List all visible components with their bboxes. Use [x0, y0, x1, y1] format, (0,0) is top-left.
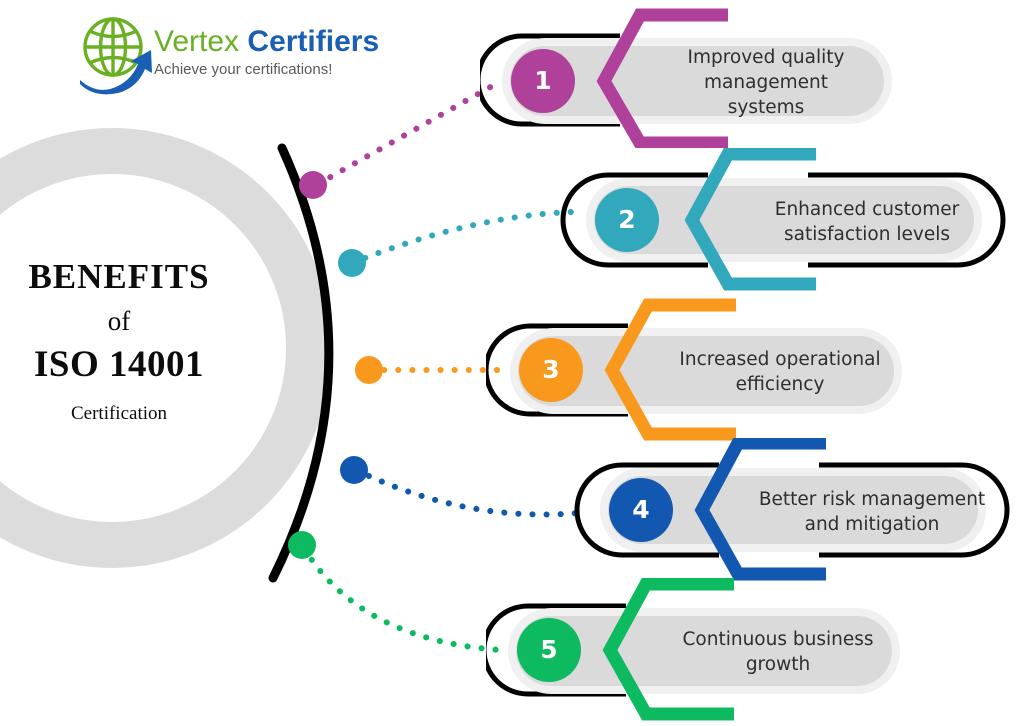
brand-logo[interactable]: Vertex Certifiers Achieve your certifica… — [72, 12, 350, 96]
connector-line-2 — [352, 212, 572, 263]
arc-node-2 — [338, 249, 366, 277]
logo-name-vertex: Vertex — [154, 25, 239, 58]
connector-line-4 — [356, 470, 588, 514]
title-block: BENEFITS of ISO 14001 Certification — [0, 258, 238, 425]
benefit-row-5[interactable]: 5 Continuous business growth — [486, 578, 910, 726]
connector-line-5 — [304, 548, 500, 650]
title-line-standard: ISO 14001 — [0, 343, 238, 387]
title-line-benefits: BENEFITS — [0, 258, 238, 297]
benefit-text-4: Better risk management and mitigation — [748, 488, 996, 538]
infographic-canvas: BENEFITS of ISO 14001 Certification Vert… — [0, 0, 1024, 726]
benefit-number-5: 5 — [529, 637, 569, 662]
globe-with-arrow-icon — [72, 12, 158, 96]
benefit-text-1: Improved quality management systems — [658, 46, 874, 121]
arc-node-3 — [355, 356, 383, 384]
benefit-row-4[interactable]: 4 Better risk management and mitigation — [574, 438, 1010, 582]
logo-wordmark: Vertex Certifiers Achieve your certifica… — [154, 26, 354, 78]
benefit-row-1[interactable]: 1 Improved quality management systems — [480, 8, 904, 148]
benefit-number-2: 2 — [607, 207, 647, 232]
connector-line-1 — [318, 85, 494, 184]
benefit-row-3[interactable]: 3 Increased operational efficiency — [486, 298, 910, 442]
arc-node-5 — [288, 531, 316, 559]
logo-tagline: Achieve your certifications! — [154, 61, 354, 78]
benefit-number-1: 1 — [523, 68, 563, 93]
logo-name-certifiers: Certifiers — [247, 25, 379, 58]
arc-node-4 — [340, 456, 368, 484]
benefit-number-4: 4 — [621, 497, 661, 522]
benefit-number-3: 3 — [531, 357, 571, 382]
title-line-of: of — [0, 301, 238, 342]
benefit-text-3: Increased operational efficiency — [664, 348, 896, 398]
arc-node-1 — [299, 171, 327, 199]
benefit-text-2: Enhanced customer satisfaction levels — [746, 198, 988, 248]
logo-name: Vertex Certifiers — [154, 26, 354, 58]
benefit-text-5: Continuous business growth — [662, 628, 894, 678]
title-line-certification: Certification — [0, 403, 238, 425]
benefit-row-2[interactable]: 2 Enhanced customer satisfaction levels — [558, 148, 1008, 292]
